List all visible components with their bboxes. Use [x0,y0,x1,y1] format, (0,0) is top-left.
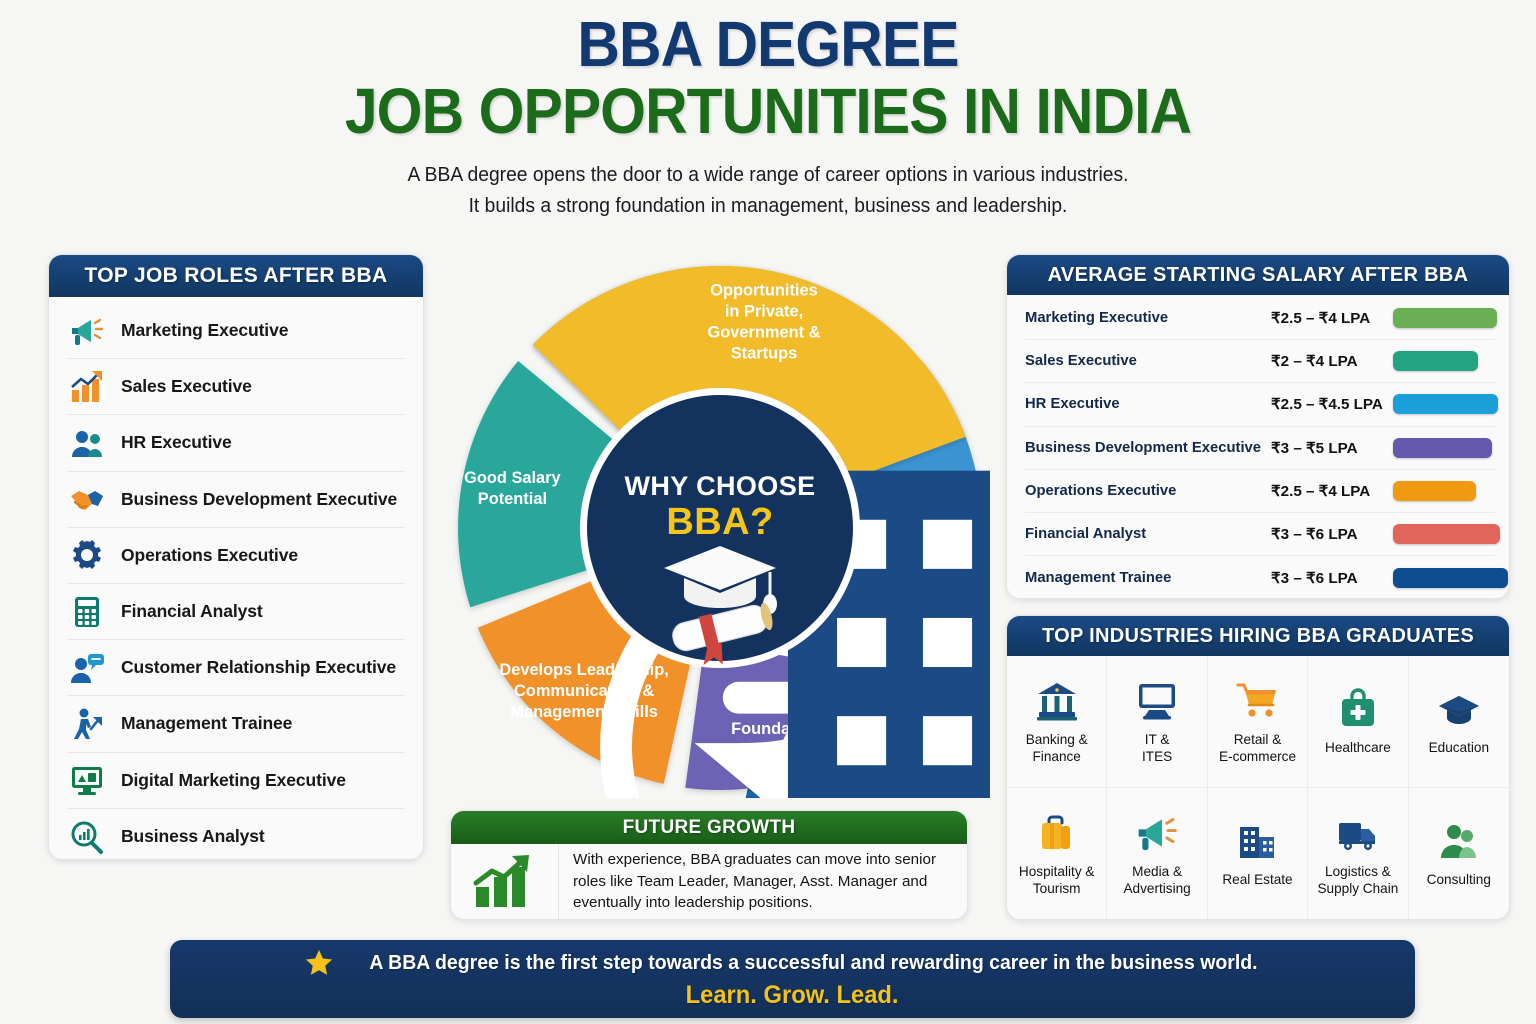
person-arrow-up-icon [67,705,107,743]
page-title-line2: JOB OPPORTUNITIES IN INDIA [61,79,1474,144]
subtitle-line1: A BBA degree opens the door to a wide ra… [46,159,1490,190]
top-industries-panel: TOP INDUSTRIES HIRING BBA GRADUATES Bank… [1006,615,1510,920]
salary-row: Financial Analyst₹3 – ₹6 LPA [1025,513,1495,556]
shopping-cart-icon [1235,678,1279,724]
megaphone-icon [1135,812,1179,854]
salary-bar-wrapper [1393,568,1508,588]
salary-bar [1393,524,1500,544]
salary-bar [1393,438,1492,458]
banner-line1: A BBA degree is the first step towards a… [369,951,1257,975]
truck-icon [1336,810,1380,856]
megaphone-icon [67,312,107,350]
salary-bar-wrapper [1393,394,1498,414]
wheel-center-line2: BBA? [666,501,773,543]
wheel-segment-label: Startups [731,345,797,363]
consultant-people-icon [1437,820,1481,862]
salary-range-value: ₹2.5 – ₹4 LPA [1271,482,1393,500]
salary-range-value: ₹3 – ₹5 LPA [1271,439,1393,457]
monitor-ads-icon [69,763,105,797]
monitor-icon [1135,680,1179,722]
job-role-label: Operations Executive [121,545,298,566]
future-growth-text: With experience, BBA graduates can move … [559,849,967,915]
industry-label: IT &ITES [1142,731,1172,765]
job-role-row[interactable]: Operations Executive [67,528,405,584]
industry-cell[interactable]: Media &Advertising [1107,788,1207,920]
salary-role-label: Operations Executive [1025,483,1271,499]
wheel-segment-label: Government & [708,324,821,342]
job-role-label: Business Analyst [121,826,265,847]
job-role-row[interactable]: Management Trainee [67,696,405,752]
job-role-row[interactable]: Sales Executive [67,359,405,415]
bar-chart-growth-icon [67,368,107,406]
industry-label: Banking &Finance [1026,731,1088,765]
future-growth-panel: FUTURE GROWTH With experience, BBA gradu… [450,810,968,920]
industries-grid: Banking &FinanceIT &ITESRetail &E-commer… [1007,656,1509,919]
salary-row: HR Executive₹2.5 – ₹4.5 LPA [1025,383,1495,426]
bank-icon [1035,678,1079,724]
shopping-cart-icon [1235,680,1279,722]
salary-bar [1393,351,1478,371]
future-growth-heading: FUTURE GROWTH [451,811,967,844]
subtitle-line2: It builds a strong foundation in managem… [46,190,1490,221]
job-role-row[interactable]: Marketing Executive [67,303,405,359]
salary-range-value: ₹2 – ₹4 LPA [1271,352,1393,370]
industry-cell[interactable]: Real Estate [1208,788,1308,920]
graduation-cap-icon [1437,686,1481,732]
salary-row: Marketing Executive₹2.5 – ₹4 LPA [1025,297,1495,340]
job-role-row[interactable]: Digital Marketing Executive [67,753,405,809]
industry-label: Consulting [1427,871,1491,888]
industry-cell[interactable]: Retail &E-commerce [1208,656,1308,788]
industry-label: Retail &E-commerce [1219,731,1296,765]
job-role-label: Management Trainee [121,713,292,734]
graduation-cap-icon [1437,688,1481,730]
industry-cell[interactable]: Banking &Finance [1007,656,1107,788]
salary-bar-wrapper [1393,438,1495,458]
job-role-label: HR Executive [121,432,232,453]
average-salary-panel: AVERAGE STARTING SALARY AFTER BBA Market… [1006,254,1510,599]
job-role-label: Financial Analyst [121,601,263,622]
people-group-icon [67,424,107,462]
buildings-icon [1235,820,1279,862]
salary-range-value: ₹2.5 – ₹4.5 LPA [1271,395,1393,413]
wheel-segment-label: Opportunities [710,282,817,300]
salary-bar [1393,308,1497,328]
salary-row: Operations Executive₹2.5 – ₹4 LPA [1025,470,1495,513]
industries-heading: TOP INDUSTRIES HIRING BBA GRADUATES [1007,616,1509,656]
monitor-ads-icon [67,761,107,799]
salary-range-value: ₹2.5 – ₹4 LPA [1271,309,1393,327]
star-icon [304,948,334,978]
salary-bar [1393,394,1498,414]
industry-label: Real Estate [1222,871,1292,888]
job-role-row[interactable]: Business Analyst [67,809,405,860]
job-role-row[interactable]: Customer Relationship Executive [67,640,405,696]
consultant-people-icon [1437,818,1481,864]
megaphone-icon [69,314,105,348]
job-role-label: Customer Relationship Executive [121,657,396,678]
industry-cell[interactable]: Healthcare [1308,656,1408,788]
salary-bar [1393,568,1508,588]
suitcase-icon [1035,810,1079,856]
wheel-segment-label: in Private, [725,303,803,321]
megaphone-icon [1135,810,1179,856]
job-role-row[interactable]: Business Development Executive [67,472,405,528]
salary-role-label: HR Executive [1025,396,1271,412]
industry-cell[interactable]: Logistics &Supply Chain [1308,788,1408,920]
wheel-segment-label: Good Salary [464,469,561,487]
job-role-label: Business Development Executive [121,489,397,510]
header: BBA DEGREE JOB OPPORTUNITIES IN INDIA A … [0,0,1536,221]
salary-row: Management Trainee₹3 – ₹6 LPA [1025,556,1495,599]
salary-role-label: Business Development Executive [1025,440,1271,456]
green-growth-bars-icon [451,844,559,919]
job-role-row[interactable]: Financial Analyst [67,584,405,640]
industry-label: Hospitality &Tourism [1019,863,1095,897]
suitcase-icon [1035,812,1079,854]
salary-role-label: Sales Executive [1025,353,1271,369]
magnifier-chart-icon [67,818,107,856]
person-chat-icon [67,649,107,687]
industry-cell[interactable]: IT &ITES [1107,656,1207,788]
gear-icon [69,538,105,572]
person-arrow-up-icon [69,707,105,741]
banner-line2: Learn. Grow. Lead. [686,981,899,1010]
salary-range-value: ₹3 – ₹6 LPA [1271,525,1393,543]
salary-range-value: ₹3 – ₹6 LPA [1271,569,1393,587]
job-role-label: Sales Executive [121,376,252,397]
buildings-icon [1235,818,1279,864]
closing-banner: A BBA degree is the first step towards a… [170,940,1415,1018]
job-role-row[interactable]: HR Executive [67,415,405,471]
industry-cell[interactable]: Education [1409,656,1509,788]
why-choose-bba-wheel: Wide Rangeof Career OptionsHigh Demandin… [450,258,990,798]
industry-label: Education [1429,739,1489,756]
salary-row: Business Development Executive₹3 – ₹5 LP… [1025,427,1495,470]
salary-role-label: Marketing Executive [1025,310,1271,326]
monitor-icon [1135,678,1179,724]
calculator-icon [67,593,107,631]
infographic-root: BBA DEGREE JOB OPPORTUNITIES IN INDIA A … [0,0,1536,1024]
job-roles-list: Marketing ExecutiveSales ExecutiveHR Exe… [49,297,423,860]
top-job-roles-panel: TOP JOB ROLES AFTER BBA Marketing Execut… [48,254,424,860]
magnifier-chart-icon [69,820,105,854]
industry-cell[interactable]: Consulting [1409,788,1509,920]
wheel-center-line1: WHY CHOOSE [624,471,815,501]
medical-bag-icon [1336,688,1380,730]
page-title-line1: BBA DEGREE [61,12,1474,77]
gear-icon [67,536,107,574]
banner-line1-row: A BBA degree is the first step towards a… [304,948,1281,978]
industry-cell[interactable]: Hospitality &Tourism [1007,788,1107,920]
job-role-label: Marketing Executive [121,320,288,341]
industry-label: Logistics &Supply Chain [1317,863,1398,897]
salary-bar-wrapper [1393,351,1495,371]
salary-bar-wrapper [1393,524,1500,544]
job-roles-heading: TOP JOB ROLES AFTER BBA [49,255,423,297]
job-role-label: Digital Marketing Executive [121,770,346,791]
truck-icon [1336,812,1380,854]
salary-table: Marketing Executive₹2.5 – ₹4 LPASales Ex… [1007,295,1509,599]
handshake-icon [67,480,107,518]
medical-bag-icon [1336,686,1380,732]
wheel-segment-label: Potential [478,490,547,508]
calculator-icon [69,595,105,629]
handshake-icon [69,482,105,516]
industry-label: Media &Advertising [1123,863,1190,897]
bank-icon [1035,680,1079,722]
future-growth-body: With experience, BBA graduates can move … [451,844,967,919]
person-chat-icon [69,651,105,685]
salary-bar-wrapper [1393,481,1495,501]
salary-bar-wrapper [1393,308,1497,328]
bar-chart-growth-icon [69,370,105,404]
people-group-icon [69,426,105,460]
salary-bar [1393,481,1476,501]
salary-heading: AVERAGE STARTING SALARY AFTER BBA [1007,255,1509,295]
salary-role-label: Financial Analyst [1025,526,1271,542]
salary-role-label: Management Trainee [1025,570,1271,586]
salary-row: Sales Executive₹2 – ₹4 LPA [1025,340,1495,383]
industry-label: Healthcare [1325,739,1391,756]
subtitle: A BBA degree opens the door to a wide ra… [46,159,1490,221]
